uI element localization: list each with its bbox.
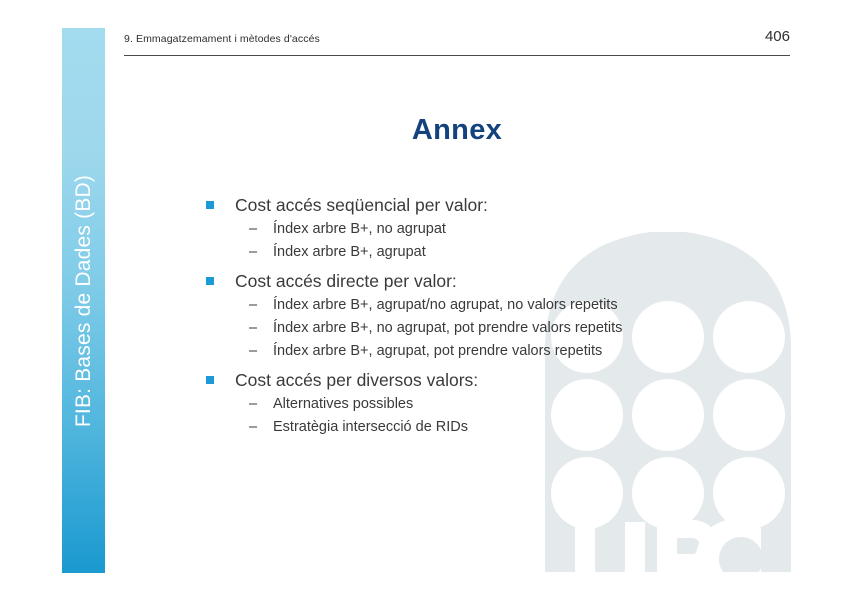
list-item-label: Alternatives possibles <box>273 396 413 412</box>
page-title: Annex <box>124 114 790 147</box>
list-item: – Índex arbre B+, agrupat <box>205 241 765 264</box>
square-bullet-icon <box>206 376 214 384</box>
list-item-heading: Cost accés seqüencial per valor: <box>205 192 765 218</box>
list-item: – Estratègia intersecció de RIDs <box>205 416 765 439</box>
list-item-label: Cost accés per diversos valors: <box>235 370 478 390</box>
list-item-label: Cost accés directe per valor: <box>235 271 457 291</box>
course-sidebar-band: FIB: Bases de Dades (BD) <box>62 28 105 573</box>
list-item: – Índex arbre B+, agrupat, pot prendre v… <box>205 340 765 363</box>
list-item-label: Índex arbre B+, no agrupat <box>273 221 446 237</box>
list-item-label: Índex arbre B+, agrupat, pot prendre val… <box>273 343 602 359</box>
list-item: – Alternatives possibles <box>205 393 765 416</box>
dash-bullet-icon: – <box>249 294 257 317</box>
dash-bullet-icon: – <box>249 416 257 439</box>
chapter-title: 9. Emmagatzemament i mètodes d'accés <box>124 33 320 45</box>
dash-bullet-icon: – <box>249 340 257 363</box>
list-item: – Índex arbre B+, no agrupat <box>205 218 765 241</box>
dash-bullet-icon: – <box>249 317 257 340</box>
slide-page: FIB: Bases de Dades (BD) 9. Emmagatzemam… <box>0 0 848 599</box>
square-bullet-icon <box>206 277 214 285</box>
dash-bullet-icon: – <box>249 241 257 264</box>
dash-bullet-icon: – <box>249 218 257 241</box>
slide-header: 9. Emmagatzemament i mètodes d'accés 406 <box>124 33 790 57</box>
list-item-heading: Cost accés per diversos valors: <box>205 367 765 393</box>
header-divider <box>124 55 790 56</box>
list-item: – Índex arbre B+, no agrupat, pot prendr… <box>205 317 765 340</box>
list-item: – Índex arbre B+, agrupat/no agrupat, no… <box>205 294 765 317</box>
list-item-label: Cost accés seqüencial per valor: <box>235 195 488 215</box>
list-item-label: Índex arbre B+, agrupat <box>273 244 426 260</box>
list-item-label: Estratègia intersecció de RIDs <box>273 419 468 435</box>
page-number: 406 <box>765 28 790 45</box>
square-bullet-icon <box>206 201 214 209</box>
list-item-label: Índex arbre B+, agrupat/no agrupat, no v… <box>273 297 618 313</box>
course-sidebar-label: FIB: Bases de Dades (BD) <box>72 174 96 426</box>
dash-bullet-icon: – <box>249 393 257 416</box>
list-item-heading: Cost accés directe per valor: <box>205 268 765 294</box>
content-list: Cost accés seqüencial per valor: – Índex… <box>205 192 765 439</box>
list-item-label: Índex arbre B+, no agrupat, pot prendre … <box>273 320 622 336</box>
